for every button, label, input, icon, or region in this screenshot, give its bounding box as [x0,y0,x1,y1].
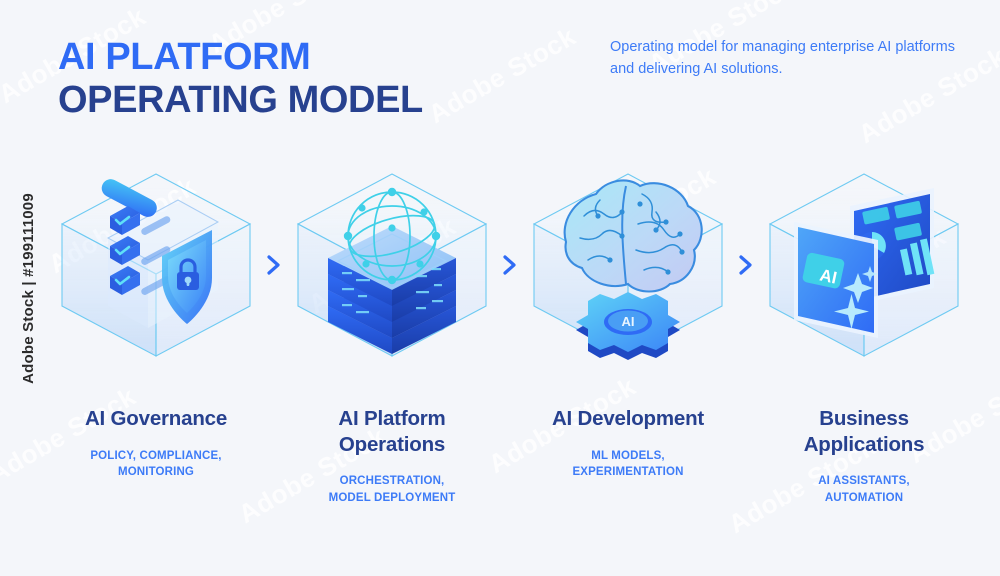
step-subtitle: ORCHESTRATION, MODEL DEPLOYMENT [286,473,498,506]
step-ai-development[interactable]: AI AI Development ML MODELS, EXPERIMENTA… [522,160,734,481]
step-subtitle: ML MODELS, EXPERIMENTATION [522,448,734,481]
stock-credit-text: Adobe Stock | #199111009 [20,193,37,384]
chevron-right-icon [498,160,522,370]
step-ai-governance[interactable]: AI Governance POLICY, COMPLIANCE, MONITO… [50,160,262,481]
step-ai-platform-operations[interactable]: AI Platform Operations ORCHESTRATION, MO… [286,160,498,507]
stock-credit: Adobe Stock | #199111009 [6,0,50,576]
checklist-shield-lock-icon [50,160,262,370]
chevron-right-icon [734,160,758,370]
step-title: AI Development [522,406,734,432]
step-title: Business Applications [758,406,970,457]
gear-ai-label: AI [622,314,635,329]
server-stack-network-globe-icon [286,160,498,370]
chevron-right-icon [262,160,286,370]
ai-brain-gear-icon: AI [522,160,734,370]
title-line-1: AI PLATFORM [58,36,423,79]
steps-row: AI Governance POLICY, COMPLIANCE, MONITO… [50,160,980,507]
step-subtitle: AI ASSISTANTS, AUTOMATION [758,473,970,506]
step-title: AI Governance [50,406,262,432]
step-subtitle: POLICY, COMPLIANCE, MONITORING [50,448,262,481]
step-title: AI Platform Operations [286,406,498,457]
step-business-applications[interactable]: AI Business Applications AI ASSISTANTS, [758,160,970,507]
page-title: AI PLATFORM OPERATING MODEL [58,36,423,121]
ai-screens-dashboard-icon: AI [758,160,970,370]
title-line-2: OPERATING MODEL [58,79,423,122]
page-subtitle: Operating model for managing enterprise … [610,36,960,81]
